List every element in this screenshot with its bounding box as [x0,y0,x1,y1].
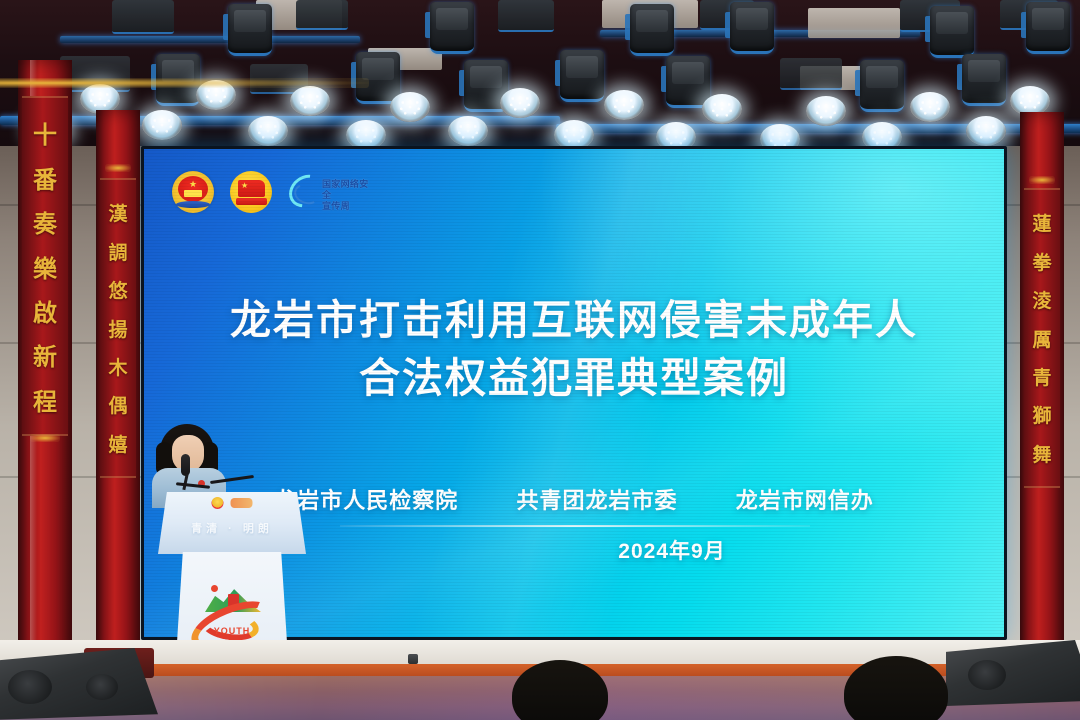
couplet-char: 漢 [108,199,127,226]
moving-head-light [860,60,904,112]
couplet-char: 嬉 [108,430,127,457]
organization-1: 龙岩市人民检察院 [274,483,458,515]
slide-date: 2024年9月 [340,535,1004,565]
stage-cable-clip [408,654,418,664]
podium-panel-logos [212,497,253,509]
couplet-char: 樂 [33,249,57,284]
couplet-char: 番 [33,160,57,195]
slide-title: 龙岩市打击利用互联网侵害未成年人 合法权益犯罪典型案例 [144,291,1004,407]
ceiling-panel [808,8,900,38]
moving-head-light [730,2,774,54]
slide-title-line2: 合法权益犯罪典型案例 [144,349,1004,407]
logo-youth-word: YOUTH [214,626,251,636]
communist-youth-league-emblem-icon: ★ [230,171,272,213]
couplet-char: 木 [108,353,127,380]
pillar-cap-ornament [1029,176,1055,184]
par-can-light [702,94,742,124]
light-fixture-housing [296,0,348,30]
speaker-driver [8,670,52,704]
couplet-left-inner: 漢 調 悠 揚 木 偶 嬉 [100,178,136,478]
podium-emblem-icon [212,497,224,509]
slide-divider [340,525,810,527]
moving-head-light [430,2,474,54]
moving-head-light [560,50,604,102]
par-can-light [500,88,540,118]
par-can-light [290,86,330,116]
couplet-right: 蓮 拳 淩 厲 青 獅 舞 [1024,188,1060,488]
light-fixture-housing [112,0,174,34]
couplet-char: 程 [33,382,57,417]
couplet-char: 淩 [1032,286,1051,313]
couplet-char: 調 [108,238,127,265]
couplet-char: 新 [33,337,57,372]
logo-sun-icon [211,585,218,592]
couplet-char: 偶 [108,391,127,418]
slide-title-line1: 龙岩市打击利用互联网侵害未成年人 [230,297,918,343]
light-fixture-housing [780,58,842,90]
light-fixture-housing [498,0,554,32]
stage-monitor-speaker [0,648,158,720]
pillar-cap-ornament [30,434,60,442]
couplet-char: 揚 [108,315,127,342]
stage-scene: ★ ★ 国家网络安全宣传周 龙岩市打击利用互联网侵害未成年人 合法权益犯罪典型案… [0,0,1080,720]
podium-top-panel: 青清 · 明朗 [158,492,306,554]
moving-head-light [630,4,674,56]
pillar-cap-ornament [105,164,131,172]
couplet-char: 悠 [108,276,127,303]
speaker-driver [86,674,118,700]
couplet-char: 青 [1032,363,1051,390]
par-can-light [604,90,644,120]
speaker-driver [968,660,1006,690]
couplet-left-outer: 十 番 奏 樂 啟 新 程 [22,96,68,436]
moving-head-light [1026,2,1070,54]
couplet-char: 十 [33,115,57,150]
couplet-char: 啟 [33,293,57,328]
moving-head-light [666,56,710,108]
ceiling-truss-area [0,0,1080,152]
par-can-light [806,96,846,126]
youth-city-logo: YOUTH [187,586,277,648]
moving-head-light [228,4,272,56]
par-can-light [142,110,182,140]
moving-head-light [930,6,974,58]
organization-2: 共青团龙岩市委 [516,483,677,515]
couplet-char: 拳 [1032,248,1051,275]
truss-bar [60,36,360,43]
slide-logo-row: ★ ★ 国家网络安全宣传周 [172,171,374,213]
par-can-light [390,92,430,122]
par-can-light [966,116,1006,146]
par-can-light [248,116,288,146]
couplet-char: 奏 [33,204,57,239]
cyber-security-week-logo-icon: 国家网络安全宣传周 [288,172,374,212]
podium-ribbon-icon [231,498,253,508]
microphone-icon [181,454,190,476]
procuratorate-emblem-icon: ★ [172,171,214,213]
par-can-light [448,116,488,146]
couplet-char: 厲 [1032,325,1051,352]
organization-3: 龙岩市网信办 [736,483,874,515]
couplet-char: 舞 [1032,440,1051,467]
pillar-cap-ornament [0,78,369,88]
couplet-char: 蓮 [1032,209,1051,236]
par-can-light [910,92,950,122]
couplet-char: 獅 [1032,401,1051,428]
podium-panel-text: 青清 · 明朗 [158,520,306,536]
moving-head-light [962,54,1006,106]
